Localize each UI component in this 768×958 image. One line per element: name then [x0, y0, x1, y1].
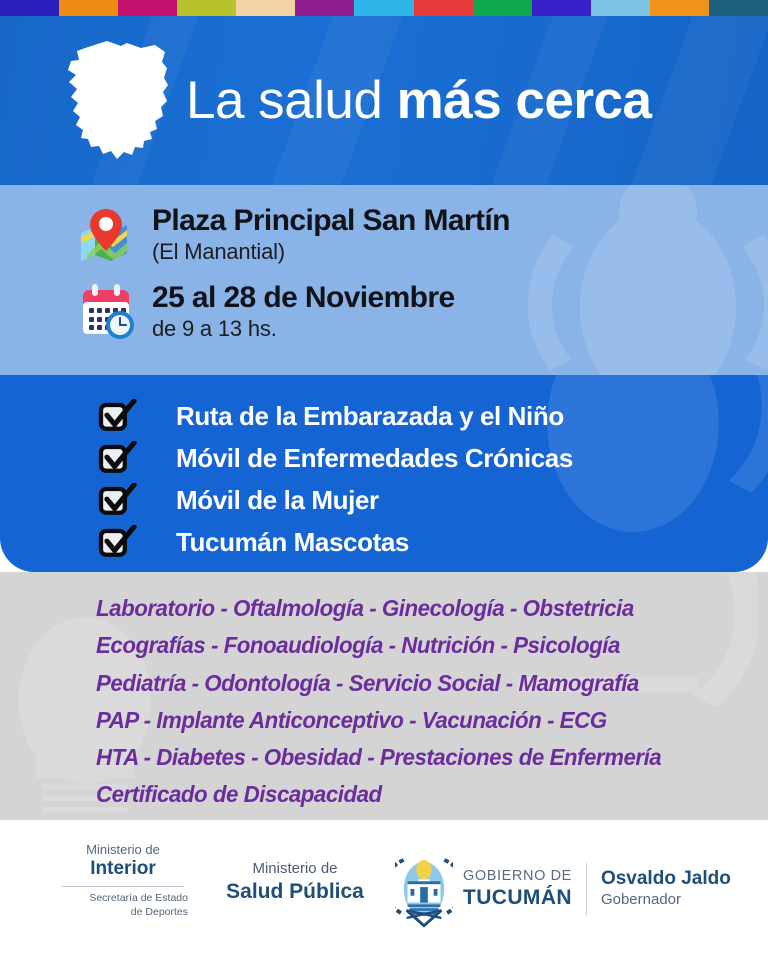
color-swatch	[473, 0, 532, 16]
checklist-item-label: Móvil de la Mujer	[138, 485, 379, 516]
checkbox-checked-icon	[98, 525, 138, 559]
gobierno-tucuman-logo: GOBIERNO DE TUCUMÁN Osvaldo Jaldo Gobern…	[395, 850, 731, 928]
gobierno-line1: GOBIERNO DE	[463, 868, 572, 885]
checklist-item-label: Móvil de Enfermedades Crónicas	[138, 443, 573, 474]
color-swatch	[0, 0, 59, 16]
location-title: Plaza Principal San Martín	[152, 205, 510, 237]
governor-name: Osvaldo Jaldo	[601, 868, 731, 891]
tucuman-coat-of-arms-icon	[395, 850, 453, 928]
color-swatch	[236, 0, 295, 16]
checkbox-checked-icon	[98, 399, 138, 433]
calendar-clock-icon	[70, 280, 142, 342]
gobierno-line2: TUCUMÁN	[463, 886, 572, 910]
service-line: Certificado de Discapacidad	[96, 776, 748, 813]
date-subtitle: de 9 a 13 hs.	[152, 315, 455, 343]
checklist-item[interactable]: Móvil de la Mujer	[98, 481, 768, 519]
poster-header: La salud más cerca	[0, 16, 768, 185]
title-light-part: La salud	[186, 71, 382, 130]
interior-line1: Ministerio de	[58, 842, 188, 858]
checklist-item-label: Tucumán Mascotas	[138, 527, 409, 558]
checkbox-checked-icon	[98, 483, 138, 517]
interior-line3a: Secretaría de Estado	[58, 892, 188, 906]
color-swatch	[177, 0, 236, 16]
event-info-band: Plaza Principal San Martín (El Manantial…	[0, 185, 768, 375]
color-swatch	[532, 0, 591, 16]
salud-line1: Ministerio de	[215, 860, 375, 879]
interior-line2: Interior	[58, 858, 188, 881]
checklist-item[interactable]: Tucumán Mascotas	[98, 523, 768, 561]
service-line: Pediatría - Odontología - Servicio Socia…	[96, 665, 748, 702]
ministerio-interior-logo: Ministerio de Interior Secretaría de Est…	[58, 842, 188, 919]
map-pin-icon	[70, 203, 142, 265]
checkbox-checked-icon	[98, 441, 138, 475]
divider	[586, 863, 587, 915]
color-swatch	[354, 0, 413, 16]
page-title: La salud más cerca	[186, 74, 651, 127]
color-swatch	[118, 0, 177, 16]
service-line: PAP - Implante Anticonceptivo - Vacunaci…	[96, 702, 748, 739]
tucuman-map-silhouette-icon	[55, 35, 180, 167]
health-campaign-poster: La salud más cerca	[0, 0, 768, 958]
date-title: 25 al 28 de Noviembre	[152, 282, 455, 314]
ministerio-salud-publica-logo: Ministerio de Salud Pública	[215, 860, 375, 904]
location-row: Plaza Principal San Martín (El Manantial…	[70, 203, 768, 266]
color-swatch	[650, 0, 709, 16]
medical-services-section: Laboratorio - Oftalmología - Ginecología…	[0, 572, 768, 820]
service-line: Ecografías - Fonoaudiología - Nutrición …	[96, 627, 748, 664]
services-checklist-panel: Ruta de la Embarazada y el Niño Móvil de…	[0, 375, 768, 572]
color-swatch	[591, 0, 650, 16]
color-swatch	[709, 0, 768, 16]
color-swatch	[59, 0, 118, 16]
interior-line3b: de Deportes	[58, 906, 188, 920]
title-bold-part: más cerca	[397, 71, 652, 130]
salud-line2: Salud Pública	[215, 879, 375, 904]
location-subtitle: (El Manantial)	[152, 238, 510, 266]
date-row: 25 al 28 de Noviembre de 9 a 13 hs.	[70, 280, 768, 343]
checklist-item[interactable]: Móvil de Enfermedades Crónicas	[98, 439, 768, 477]
service-line: Laboratorio - Oftalmología - Ginecología…	[96, 590, 748, 627]
checklist-item-label: Ruta de la Embarazada y el Niño	[138, 401, 564, 432]
color-swatch	[295, 0, 354, 16]
divider	[62, 886, 184, 887]
top-color-strip	[0, 0, 768, 16]
poster-footer: Ministerio de Interior Secretaría de Est…	[0, 820, 768, 958]
governor-role: Gobernador	[601, 891, 731, 910]
color-swatch	[414, 0, 473, 16]
service-line: HTA - Diabetes - Obesidad - Prestaciones…	[96, 739, 748, 776]
checklist-item[interactable]: Ruta de la Embarazada y el Niño	[98, 397, 768, 435]
